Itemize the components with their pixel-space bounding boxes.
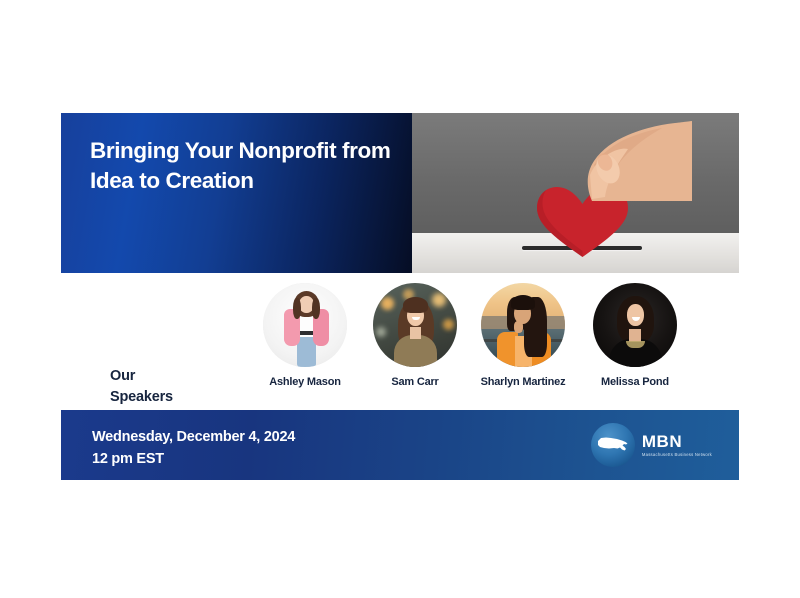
avatar (373, 283, 457, 367)
speakers-row: OurSpeakers (61, 273, 739, 410)
mbn-logo: MBN Massachusetts Business Network (591, 423, 712, 467)
speakers-heading-line-2: Speakers (110, 389, 173, 405)
avatar (593, 283, 677, 367)
speaker-card: Melissa Pond (581, 283, 689, 388)
speaker-name: Melissa Pond (581, 376, 689, 388)
screenshot-canvas: Bringing Your Nonprofit from Idea to Cre… (0, 0, 800, 598)
speaker-name: Sam Carr (361, 376, 469, 388)
footer-bar: Wednesday, December 4, 202412 pm EST MBN… (61, 410, 739, 480)
hand-icon (580, 117, 692, 201)
mbn-logo-text: MBN Massachusetts Business Network (642, 433, 712, 457)
mbn-logo-tagline: Massachusetts Business Network (642, 453, 712, 457)
speaker-card: Ashley Mason (251, 283, 359, 388)
avatar (263, 283, 347, 367)
page-title: Bringing Your Nonprofit from Idea to Cre… (90, 136, 402, 196)
speaker-name: Ashley Mason (251, 376, 359, 388)
mbn-logo-name: MBN (642, 433, 712, 450)
speaker-card: Sam Carr (361, 283, 469, 388)
speakers-heading: OurSpeakers (110, 366, 220, 408)
speaker-card: Sharlyn Martinez (469, 283, 577, 388)
event-time: 12 pm EST (92, 451, 164, 467)
speaker-list: Ashley Mason Sam Carr (251, 273, 739, 410)
hero-photo (412, 113, 739, 273)
speakers-heading-line-1: Our (110, 368, 135, 384)
hero-title-panel: Bringing Your Nonprofit from Idea to Cre… (61, 113, 412, 273)
webinar-promo-banner: Bringing Your Nonprofit from Idea to Cre… (61, 113, 739, 484)
avatar (481, 283, 565, 367)
event-date: Wednesday, December 4, 2024 (92, 429, 295, 445)
hero-row: Bringing Your Nonprofit from Idea to Cre… (61, 113, 739, 273)
event-datetime: Wednesday, December 4, 202412 pm EST (92, 426, 295, 471)
massachusetts-state-icon (591, 423, 635, 467)
speaker-name: Sharlyn Martinez (469, 376, 577, 388)
